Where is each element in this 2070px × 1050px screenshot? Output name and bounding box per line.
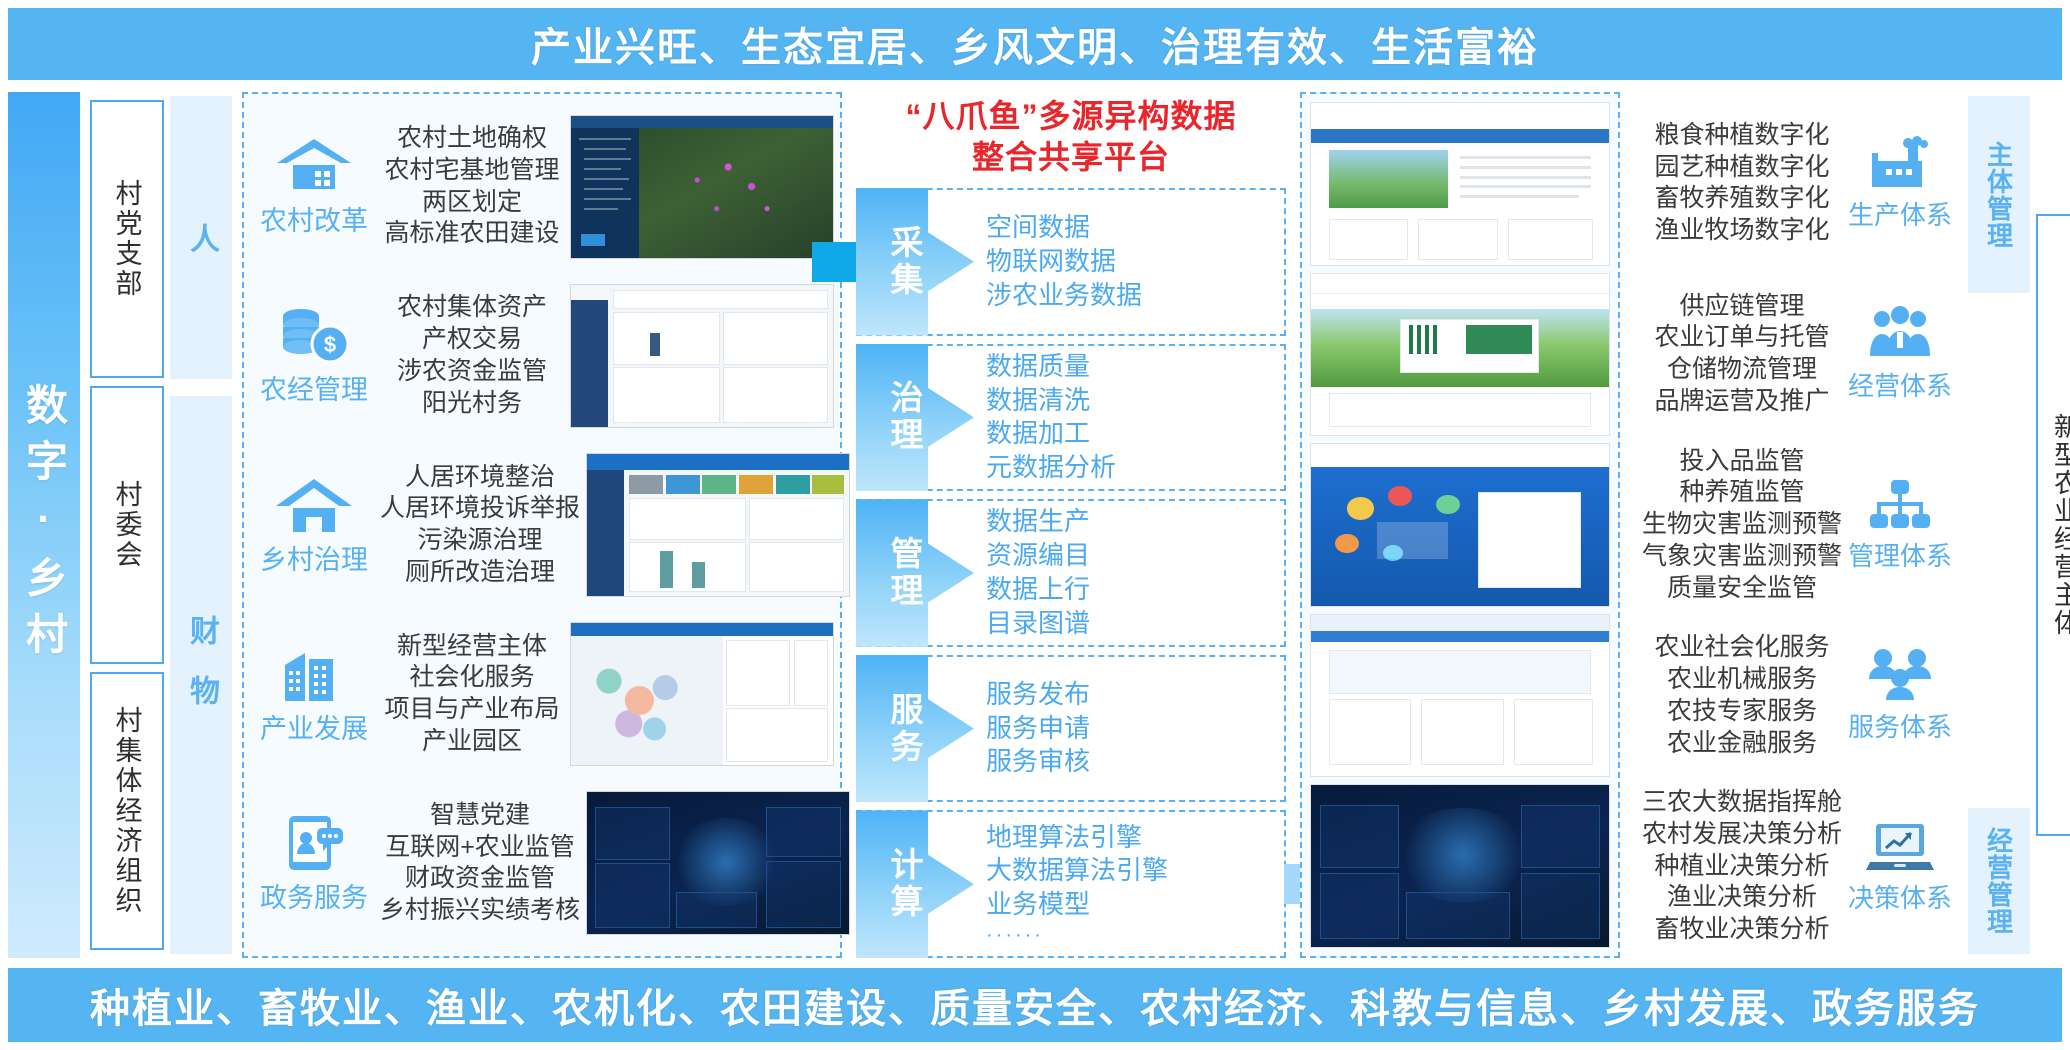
system-item: 粮食种植数字化 (1638, 120, 1846, 152)
service-screenshot-governance-dashboard (586, 453, 850, 597)
system-row-management: 投入品监管 种养殖监管 生物灾害监测预警 气象灾害监测预警 质量安全监管 管理体… (1638, 440, 1954, 611)
step-item: 数据上行 (986, 573, 1090, 607)
system-item: 畜牧业决策分析 (1638, 914, 1846, 946)
system-item: 供应链管理 (1638, 291, 1846, 323)
management-label: 经营管理 (1981, 827, 2018, 935)
service-item: 高标准农田建设 (380, 218, 564, 250)
step-item: 地理算法引擎 (986, 821, 1168, 855)
system-item: 质量安全监管 (1638, 573, 1846, 605)
management-spacer (1968, 293, 2030, 808)
factory-icon: 生产体系 (1846, 135, 1954, 232)
service-item: 阳光村务 (380, 388, 564, 420)
platform-title-line2: 整合共享平台 (856, 137, 1286, 178)
system-row-operation: 供应链管理 农业订单与托管 仓储物流管理 品牌运营及推广 经营体系 (1638, 269, 1954, 440)
svg-text:$: $ (324, 332, 336, 357)
step-item: 数据清洗 (986, 384, 1116, 418)
step-connector-left (812, 242, 856, 282)
service-row-rural-reform: 农村改革 农村土地确权 农村宅基地管理 两区划定 高标准农田建设 (254, 102, 834, 271)
coins-dollar-icon: $ 农经管理 (254, 304, 374, 407)
management-subject: 主体管理 (1968, 96, 2030, 293)
step-stage-label: 管理 (856, 536, 928, 610)
management-operation: 经营管理 (1968, 808, 2030, 954)
service-item: 互联网+农业监管 (380, 832, 580, 864)
step-stage-label: 采集 (856, 225, 928, 299)
step-item: 数据生产 (986, 505, 1090, 539)
system-name: 管理体系 (1848, 536, 1952, 573)
system-item: 种养殖监管 (1638, 477, 1846, 509)
service-items: 农村集体资产 产权交易 涉农资金监管 阳光村务 (374, 292, 570, 419)
service-item: 两区划定 (380, 187, 564, 219)
system-row-decision: 三农大数据指挥舱 农村发展决策分析 种植业决策分析 渔业决策分析 畜牧业决策分析… (1638, 781, 1954, 952)
step-stage-badge: 服务 (856, 655, 974, 803)
resource-label: 财物 (179, 615, 223, 735)
system-items: 农业社会化服务 农业机械服务 农技专家服务 农业金融服务 (1638, 632, 1846, 759)
service-name: 产业发展 (260, 707, 368, 746)
step-items: 服务发布 服务申请 服务审核 (986, 678, 1090, 779)
bottom-banner: 种植业、畜牧业、渔业、农机化、农田建设、质量安全、农村经济、科教与信息、乡村发展… (8, 968, 2062, 1042)
step-stage-badge: 计算 (856, 810, 974, 958)
service-items: 智慧党建 互联网+农业监管 财政资金监管 乡村振兴实绩考核 (374, 800, 586, 927)
resource-assets: 财物 (170, 396, 232, 954)
step-item: ······ (986, 922, 1168, 948)
service-item: 智慧党建 (380, 800, 580, 832)
org-box-label: 村集体经济组织 (108, 706, 147, 916)
service-item: 社会化服务 (380, 662, 564, 694)
resource-gap (170, 379, 232, 396)
system-name: 决策体系 (1848, 878, 1952, 915)
system-item: 畜牧养殖数字化 (1638, 183, 1846, 215)
service-item: 产权交易 (380, 324, 564, 356)
service-screenshot-satellite-parcel-map (570, 115, 834, 259)
left-rail-label: 数字·乡村 (14, 383, 75, 668)
people-group-icon: 经营体系 (1846, 306, 1954, 403)
step-item: 物联网数据 (986, 245, 1142, 279)
service-name: 乡村治理 (260, 538, 368, 577)
platform-title: “八爪鱼”多源异构数据 整合共享平台 (856, 92, 1286, 188)
buildings-icon: 产业发展 (254, 643, 374, 746)
service-item: 涉农资金监管 (380, 356, 564, 388)
platform-step-governance[interactable]: 治理 数据质量 数据清洗 数据加工 元数据分析 (856, 344, 1286, 492)
step-item: 服务发布 (986, 678, 1090, 712)
platform-step-compute[interactable]: 计算 地理算法引擎 大数据算法引擎 业务模型 ······ (856, 810, 1286, 958)
system-item: 投入品监管 (1638, 446, 1846, 478)
org-box-collective-economy: 村集体经济组织 (90, 672, 164, 950)
step-items: 地理算法引擎 大数据算法引擎 业务模型 ······ (986, 821, 1168, 948)
step-stage-badge: 采集 (856, 188, 974, 336)
service-item: 厕所改造治理 (380, 557, 580, 589)
system-name: 服务体系 (1848, 707, 1952, 744)
org-box-label: 村党支部 (108, 179, 147, 299)
system-item: 农业社会化服务 (1638, 632, 1846, 664)
platform-step-service[interactable]: 服务 服务发布 服务申请 服务审核 (856, 655, 1286, 803)
left-rail: 数字·乡村 (8, 92, 80, 958)
service-item: 农村土地确权 (380, 123, 564, 155)
house-icon: 农村改革 (254, 135, 374, 238)
resource-label: 人 (179, 223, 223, 253)
service-screenshot-command-center-dark (586, 791, 850, 935)
service-items: 新型经营主体 社会化服务 项目与产业布局 产业园区 (374, 631, 570, 758)
bottom-banner-text: 种植业、畜牧业、渔业、农机化、农田建设、质量安全、农村经济、科教与信息、乡村发展… (90, 976, 1980, 1034)
system-item: 农业机械服务 (1638, 664, 1846, 696)
screenshot-service-platform-site (1310, 614, 1610, 778)
step-stage-label: 治理 (856, 380, 928, 454)
step-stage-badge: 管理 (856, 499, 974, 647)
system-items: 三农大数据指挥舱 农村发展决策分析 种植业决策分析 渔业决策分析 畜牧业决策分析 (1638, 787, 1846, 946)
system-item: 品牌运营及推广 (1638, 386, 1846, 418)
home-roof-icon: 乡村治理 (254, 474, 374, 577)
service-screenshot-asset-dashboard (570, 284, 834, 428)
service-items: 农村土地确权 农村宅基地管理 两区划定 高标准农田建设 (374, 123, 570, 250)
step-item: 服务审核 (986, 745, 1090, 779)
service-item: 产业园区 (380, 726, 564, 758)
service-item: 乡村振兴实绩考核 (380, 895, 580, 927)
system-item: 渔业决策分析 (1638, 882, 1846, 914)
service-item: 人居环境整治 (380, 462, 580, 494)
step-item: 资源编目 (986, 539, 1090, 573)
top-banner-text: 产业兴旺、生态宜居、乡风文明、治理有效、生活富裕 (531, 15, 1539, 73)
service-row-rural-governance: 乡村治理 人居环境整治 人居环境投诉举报 污染源治理 厕所改造治理 (254, 440, 834, 609)
service-item: 农村宅基地管理 (380, 155, 564, 187)
step-stage-badge: 治理 (856, 344, 974, 492)
management-label: 主体管理 (1981, 141, 2018, 249)
platform-column: “八爪鱼”多源异构数据 整合共享平台 采集 空间数据 物联网数据 涉农业务数据 (856, 92, 1286, 958)
platform-step-management[interactable]: 管理 数据生产 资源编目 数据上行 目录图谱 (856, 499, 1286, 647)
system-item: 种植业决策分析 (1638, 851, 1846, 883)
service-row-industry-development: 产业发展 新型经营主体 社会化服务 项目与产业布局 产业园区 (254, 610, 834, 779)
step-item: 涉农业务数据 (986, 279, 1142, 313)
system-item: 渔业牧场数字化 (1638, 215, 1846, 247)
platform-steps: 采集 空间数据 物联网数据 涉农业务数据 治理 数据质量 数据清洗 (856, 188, 1286, 958)
service-name: 农村改革 (260, 199, 368, 238)
step-item: 空间数据 (986, 211, 1142, 245)
service-row-rural-economy: $ 农经管理 农村集体资产 产权交易 涉农资金监管 阳光村务 (254, 271, 834, 440)
system-item: 农业订单与托管 (1638, 322, 1846, 354)
step-items: 数据质量 数据清洗 数据加工 元数据分析 (986, 350, 1116, 485)
service-screenshot-industry-map (570, 622, 834, 766)
top-banner: 产业兴旺、生态宜居、乡风文明、治理有效、生活富裕 (8, 8, 2062, 80)
village-services-panel: 农村改革 农村土地确权 农村宅基地管理 两区划定 高标准农田建设 (242, 92, 842, 958)
system-name: 生产体系 (1848, 195, 1952, 232)
entity-box-new-agri-operators: 新型农业经营主体 (2036, 214, 2070, 836)
step-item: 数据质量 (986, 350, 1116, 384)
service-item: 项目与产业布局 (380, 694, 564, 726)
org-box-label: 村委会 (108, 480, 147, 570)
screenshot-agri-portal-site (1310, 102, 1610, 266)
service-name: 农经管理 (260, 368, 368, 407)
system-item: 农技专家服务 (1638, 696, 1846, 728)
screenshot-product-traceability-site (1310, 273, 1610, 437)
entity-column: 新型农业经营主体 (2036, 92, 2070, 958)
three-users-icon: 服务体系 (1846, 647, 1954, 744)
resource-column: 人 财物 (170, 92, 232, 958)
entity-box-label: 新型农业经营主体 (2048, 413, 2070, 637)
platform-screenshots-panel (1300, 92, 1620, 958)
mobile-chat-icon: 政务服务 (254, 812, 374, 915)
service-item: 新型经营主体 (380, 631, 564, 663)
laptop-chart-icon: 决策体系 (1846, 818, 1954, 915)
screenshot-bigdata-command-dark (1310, 784, 1610, 948)
system-item: 三农大数据指挥舱 (1638, 787, 1846, 819)
step-items: 数据生产 资源编目 数据上行 目录图谱 (986, 505, 1090, 640)
system-items: 粮食种植数字化 园艺种植数字化 畜牧养殖数字化 渔业牧场数字化 (1638, 120, 1846, 247)
system-item: 园艺种植数字化 (1638, 152, 1846, 184)
service-name: 政务服务 (260, 876, 368, 915)
service-items: 人居环境整治 人居环境投诉举报 污染源治理 厕所改造治理 (374, 462, 586, 589)
system-item: 气象灾害监测预警 (1638, 541, 1846, 573)
step-stage-label: 服务 (856, 692, 928, 766)
resource-people: 人 (170, 96, 232, 379)
service-item: 污染源治理 (380, 525, 580, 557)
system-item: 农村发展决策分析 (1638, 819, 1846, 851)
step-items: 空间数据 物联网数据 涉农业务数据 (986, 211, 1142, 312)
step-item: 业务模型 (986, 888, 1168, 922)
screenshot-food-safety-promo (1310, 443, 1610, 607)
org-box-party-branch: 村党支部 (90, 100, 164, 378)
infographic-root: 产业兴旺、生态宜居、乡风文明、治理有效、生活富裕 数字·乡村 村党支部 村委会 … (0, 0, 2070, 1050)
service-row-government-services: 政务服务 智慧党建 互联网+农业监管 财政资金监管 乡村振兴实绩考核 (254, 779, 834, 948)
management-column: 主体管理 经营管理 (1968, 92, 2030, 958)
service-item: 农村集体资产 (380, 292, 564, 324)
step-item: 目录图谱 (986, 607, 1090, 641)
step-stage-label: 计算 (856, 847, 928, 921)
step-item: 服务申请 (986, 712, 1090, 746)
step-item: 大数据算法引擎 (986, 854, 1168, 888)
platform-step-collect[interactable]: 采集 空间数据 物联网数据 涉农业务数据 (856, 188, 1286, 336)
step-item: 元数据分析 (986, 451, 1116, 485)
system-row-service: 农业社会化服务 农业机械服务 农技专家服务 农业金融服务 服务体系 (1638, 610, 1954, 781)
service-item: 人居环境投诉举报 (380, 493, 580, 525)
system-items: 投入品监管 种养殖监管 生物灾害监测预警 气象灾害监测预警 质量安全监管 (1638, 446, 1846, 605)
system-item: 农业金融服务 (1638, 728, 1846, 760)
main-content-row: 数字·乡村 村党支部 村委会 村集体经济组织 人 财物 (8, 92, 2062, 958)
step-item: 数据加工 (986, 417, 1116, 451)
service-item: 财政资金监管 (380, 863, 580, 895)
system-items: 供应链管理 农业订单与托管 仓储物流管理 品牌运营及推广 (1638, 291, 1846, 418)
agri-systems-panel: 粮食种植数字化 园艺种植数字化 畜牧养殖数字化 渔业牧场数字化 生产体系 供应链… (1634, 92, 1958, 958)
system-item: 生物灾害监测预警 (1638, 509, 1846, 541)
org-chart-icon: 管理体系 (1846, 476, 1954, 573)
org-boxes-column: 村党支部 村委会 村集体经济组织 (90, 92, 164, 958)
platform-title-line1: “八爪鱼”多源异构数据 (856, 96, 1286, 137)
system-name: 经营体系 (1848, 366, 1952, 403)
org-box-village-committee: 村委会 (90, 386, 164, 664)
system-item: 仓储物流管理 (1638, 354, 1846, 386)
system-row-production: 粮食种植数字化 园艺种植数字化 畜牧养殖数字化 渔业牧场数字化 生产体系 (1638, 98, 1954, 269)
